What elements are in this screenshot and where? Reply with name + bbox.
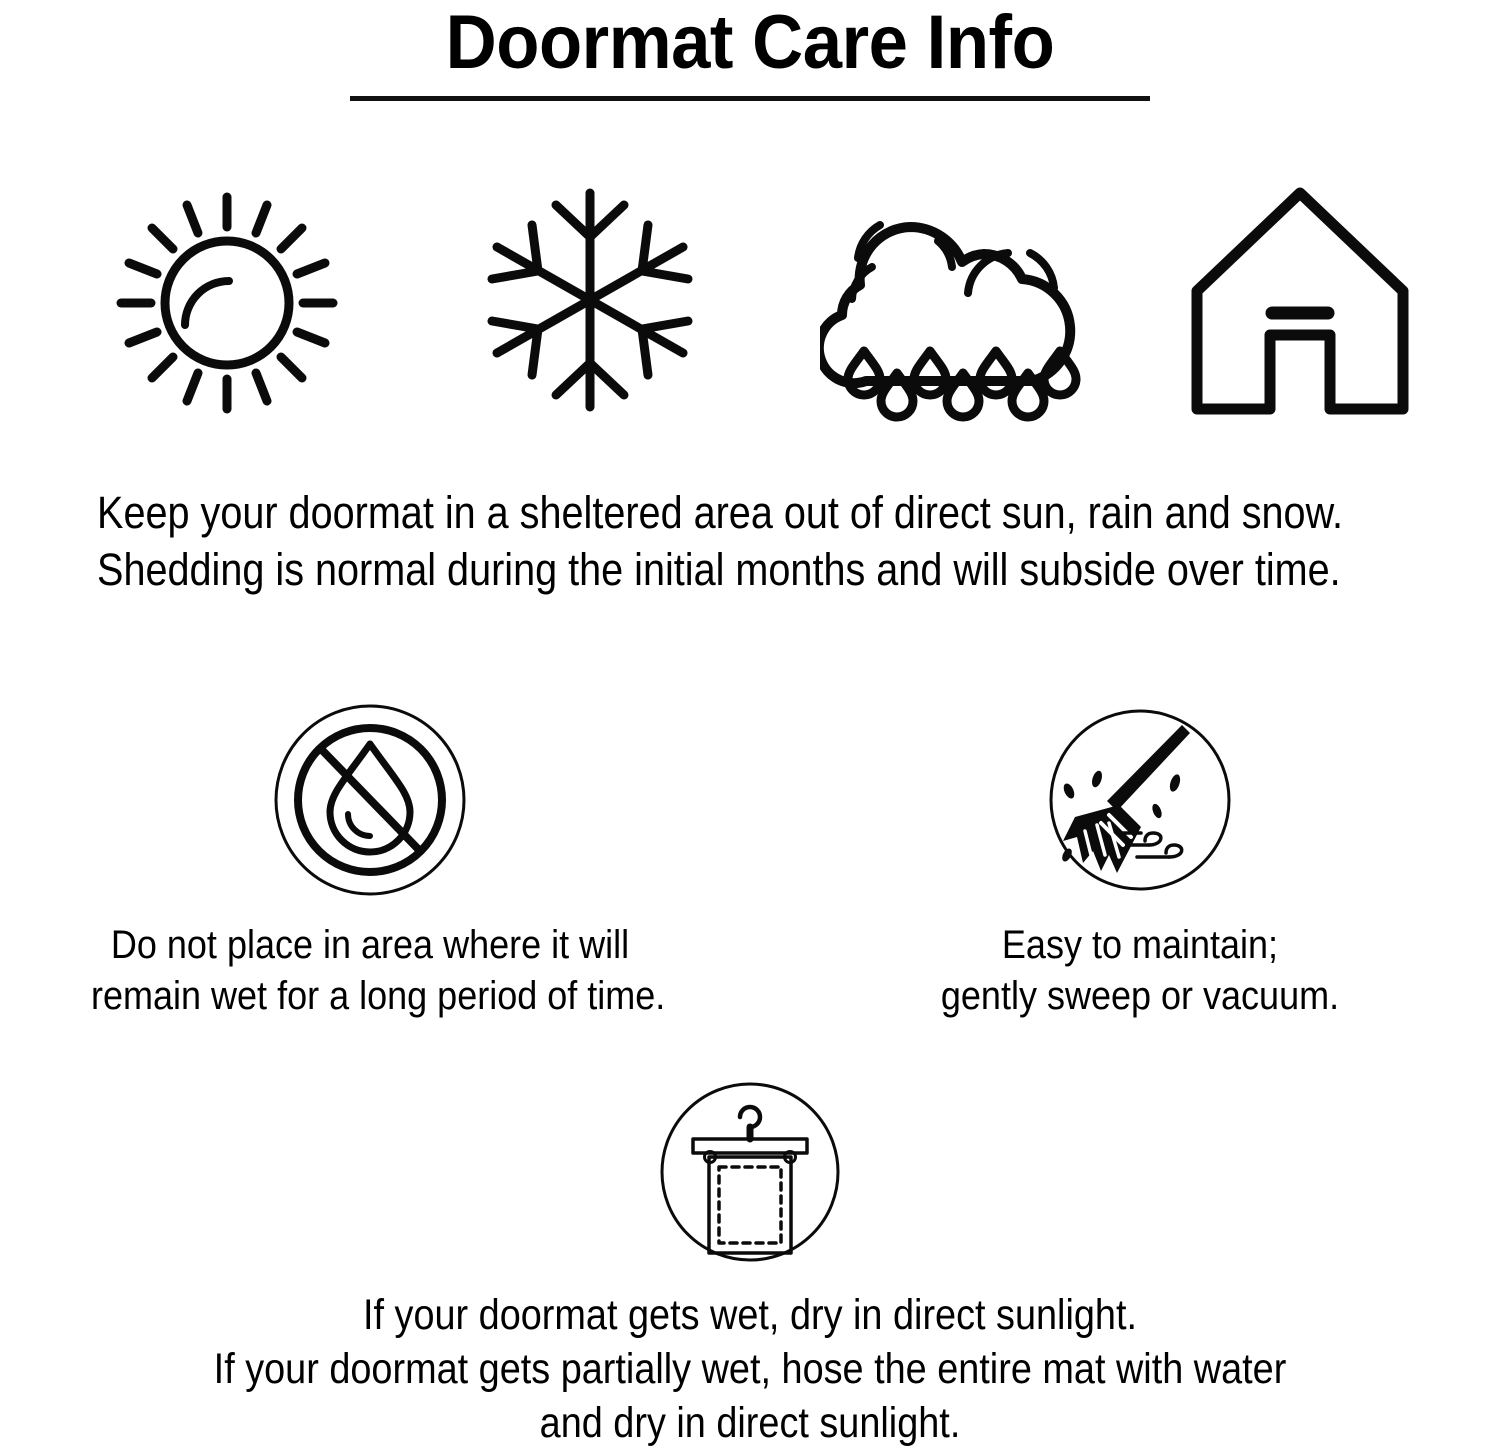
care-item-easy-maintain: Easy to maintain; gently sweep or vacuum…: [830, 700, 1450, 1022]
no-water-caption-line-1: Do not place in area where it will: [91, 920, 649, 971]
hang-dry-icon: [0, 1072, 1500, 1272]
hang-dry-caption-line-1: If your doormat gets wet, dry in direct …: [90, 1288, 1410, 1342]
title-underline-rule: [350, 96, 1150, 101]
easy-maintain-caption-line-1: Easy to maintain;: [861, 920, 1419, 971]
sun-icon: [97, 175, 357, 425]
header: Doormat Care Info: [0, 0, 1500, 101]
no-water-caption-line-2: remain wet for a long period of time.: [91, 971, 649, 1022]
broom-sweep-icon: [830, 700, 1450, 900]
easy-maintain-caption-line-2: gently sweep or vacuum.: [861, 971, 1419, 1022]
intro-paragraph: Keep your doormat in a sheltered area ou…: [0, 484, 1500, 598]
intro-line-2: Shedding is normal during the initial mo…: [90, 541, 1410, 598]
weather-icon-row: [0, 175, 1500, 425]
rain-cloud-icon: [820, 175, 1080, 425]
care-item-hang-dry: If your doormat gets wet, dry in direct …: [0, 1072, 1500, 1450]
no-water-caption: Do not place in area where it will remai…: [60, 920, 680, 1022]
hang-dry-caption-line-3: and dry in direct sunlight.: [90, 1396, 1410, 1450]
page-title: Doormat Care Info: [53, 0, 1448, 84]
intro-line-1: Keep your doormat in a sheltered area ou…: [90, 484, 1410, 541]
hang-dry-caption-line-2: If your doormat gets partially wet, hose…: [90, 1342, 1410, 1396]
care-info-page: Doormat Care Info: [0, 0, 1500, 1446]
no-water-icon: [60, 700, 680, 900]
house-icon: [1175, 175, 1435, 425]
easy-maintain-caption: Easy to maintain; gently sweep or vacuum…: [830, 920, 1450, 1022]
hang-dry-caption: If your doormat gets wet, dry in direct …: [0, 1288, 1500, 1450]
snowflake-icon: [460, 175, 720, 425]
care-item-no-standing-water: Do not place in area where it will remai…: [60, 700, 680, 1022]
